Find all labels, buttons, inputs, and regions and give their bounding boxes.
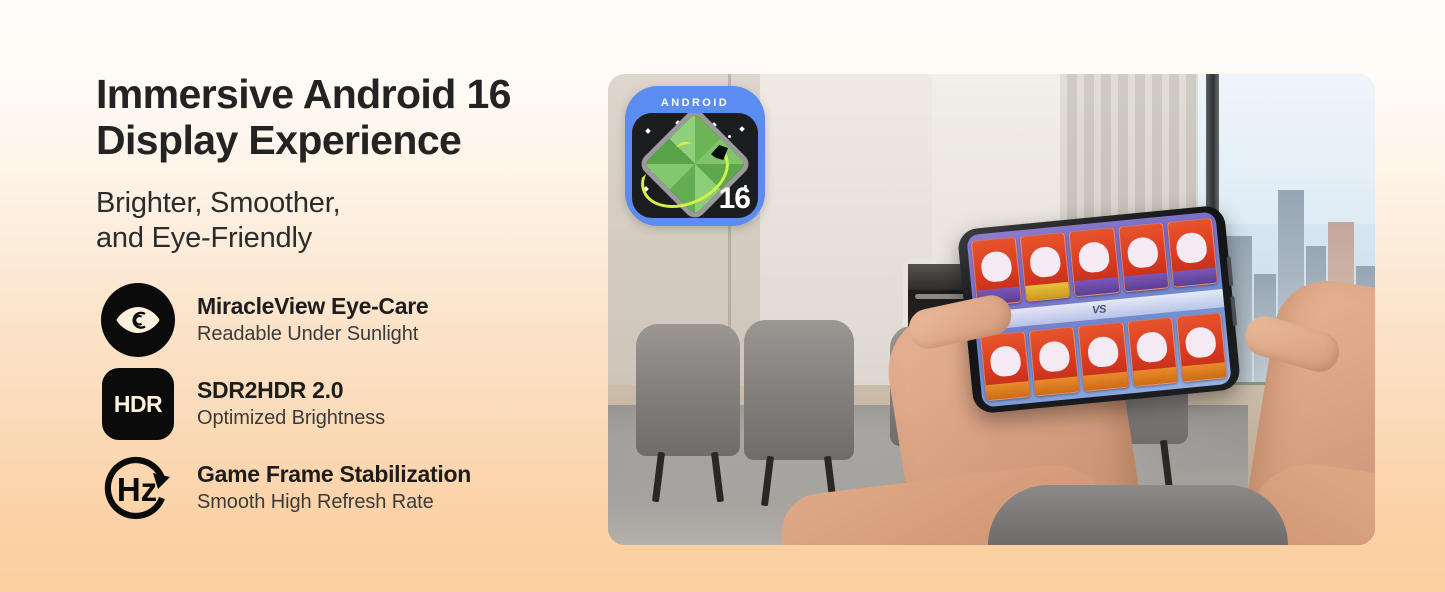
vs-label: VS bbox=[1092, 303, 1107, 316]
dining-chair bbox=[744, 320, 854, 460]
game-card[interactable] bbox=[980, 331, 1031, 401]
page-title: Immersive Android 16 Display Experience bbox=[96, 72, 596, 164]
hz-refresh-icon: Hz bbox=[100, 450, 176, 526]
eye-icon bbox=[100, 282, 176, 358]
android-badge-label: ANDROID bbox=[632, 93, 758, 113]
feature-list: MiracleView Eye-Care Readable Under Sunl… bbox=[100, 278, 620, 530]
feature-title: Game Frame Stabilization bbox=[197, 461, 471, 488]
android-version-number: 16 bbox=[719, 182, 750, 216]
feature-item-frame-stabilization: Hz Game Frame Stabilization Smooth High … bbox=[100, 446, 620, 530]
marketing-copy: Immersive Android 16 Display Experience … bbox=[96, 72, 596, 257]
feature-subtitle: Readable Under Sunlight bbox=[197, 322, 428, 347]
feature-item-sdr2hdr: HDR SDR2HDR 2.0 Optimized Brightness bbox=[100, 362, 620, 446]
game-card[interactable] bbox=[1020, 232, 1071, 302]
game-card[interactable] bbox=[1078, 322, 1129, 392]
android-badge-artwork: 16 bbox=[632, 113, 758, 218]
game-card[interactable] bbox=[1176, 312, 1227, 382]
product-lifestyle-photo: VS ANDROID bbox=[608, 74, 1375, 545]
page-subtitle: Brighter, Smoother, and Eye-Friendly bbox=[96, 186, 596, 257]
feature-item-eye-care: MiracleView Eye-Care Readable Under Sunl… bbox=[100, 278, 620, 362]
feature-subtitle: Optimized Brightness bbox=[197, 406, 385, 431]
game-card[interactable] bbox=[1127, 317, 1178, 387]
svg-text:Hz: Hz bbox=[117, 471, 157, 508]
feature-subtitle: Smooth High Refresh Rate bbox=[197, 490, 471, 515]
game-card[interactable] bbox=[1118, 222, 1169, 292]
game-card[interactable] bbox=[1069, 227, 1120, 297]
feature-title: SDR2HDR 2.0 bbox=[197, 377, 385, 404]
feature-title: MiracleView Eye-Care bbox=[197, 293, 428, 320]
game-card[interactable] bbox=[1167, 218, 1218, 288]
game-card[interactable] bbox=[1029, 326, 1080, 396]
hdr-icon: HDR bbox=[100, 366, 176, 442]
hdr-icon-label: HDR bbox=[114, 391, 162, 418]
android-16-badge: ANDROID 16 bbox=[625, 86, 765, 226]
dining-chair bbox=[636, 324, 740, 456]
knee bbox=[988, 485, 1288, 545]
